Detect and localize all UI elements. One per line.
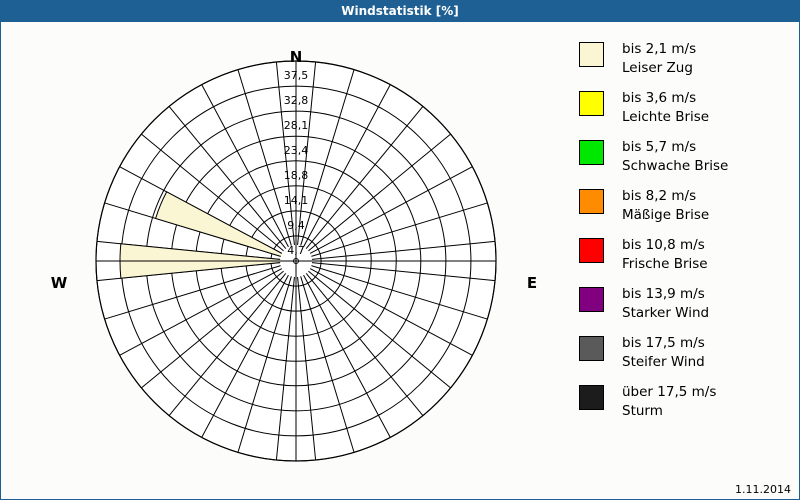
window-title: Windstatistik [%]: [341, 4, 458, 18]
legend-item-text: bis 8,2 m/sMäßige Brise: [622, 187, 709, 225]
legend-item-name: Mäßige Brise: [622, 206, 709, 225]
legend-item-speed: bis 5,7 m/s: [622, 138, 728, 157]
legend-color-swatch: [579, 385, 604, 410]
legend-item-speed: über 17,5 m/s: [622, 383, 716, 402]
windrose-window: Windstatistik [%] N S W E 4,79,414,118,8…: [0, 0, 800, 500]
legend-item[interactable]: bis 17,5 m/sSteifer Wind: [579, 334, 789, 372]
compass-label-east: E: [504, 274, 560, 292]
legend-item-name: Steifer Wind: [622, 353, 705, 372]
legend-item-text: bis 2,1 m/sLeiser Zug: [622, 40, 696, 78]
window-title-bar: Windstatistik [%]: [0, 0, 800, 22]
legend-color-swatch: [579, 238, 604, 263]
legend-color-swatch: [579, 336, 604, 361]
legend-item-speed: bis 13,9 m/s: [622, 285, 709, 304]
radial-tick-label: 28,1: [268, 119, 324, 132]
legend-item-text: bis 10,8 m/sFrische Brise: [622, 236, 708, 274]
compass-label-north: N: [266, 48, 326, 66]
radial-tick-label: 32,8: [268, 94, 324, 107]
legend-color-swatch: [579, 42, 604, 67]
legend-item-speed: bis 17,5 m/s: [622, 334, 705, 353]
radial-tick-label: 14,1: [268, 194, 324, 207]
legend-item-name: Schwache Brise: [622, 157, 728, 176]
legend-item-text: über 17,5 m/sSturm: [622, 383, 716, 421]
legend-color-swatch: [579, 140, 604, 165]
legend-item[interactable]: bis 13,9 m/sStarker Wind: [579, 285, 789, 323]
radial-tick-label: 37,5: [268, 69, 324, 82]
legend-item[interactable]: bis 10,8 m/sFrische Brise: [579, 236, 789, 274]
radial-tick-label: 4,7: [268, 244, 324, 257]
legend-item-text: bis 5,7 m/sSchwache Brise: [622, 138, 728, 176]
legend-item-text: bis 17,5 m/sSteifer Wind: [622, 334, 705, 372]
legend-item-text: bis 3,6 m/sLeichte Brise: [622, 89, 709, 127]
legend-color-swatch: [579, 91, 604, 116]
footer-date: 1.11.2014: [735, 483, 791, 496]
legend-item[interactable]: bis 2,1 m/sLeiser Zug: [579, 40, 789, 78]
legend-item-name: Frische Brise: [622, 255, 708, 274]
radial-tick-label: 18,8: [268, 169, 324, 182]
legend-item[interactable]: bis 3,6 m/sLeichte Brise: [579, 89, 789, 127]
legend-item-name: Starker Wind: [622, 304, 709, 323]
radial-tick-label: 23,4: [268, 144, 324, 157]
legend-item-speed: bis 10,8 m/s: [622, 236, 708, 255]
legend-item-name: Sturm: [622, 402, 716, 421]
legend: bis 2,1 m/sLeiser Zugbis 3,6 m/sLeichte …: [579, 40, 789, 432]
legend-color-swatch: [579, 189, 604, 214]
radial-tick-label: 9,4: [268, 219, 324, 232]
legend-item-name: Leiser Zug: [622, 59, 696, 78]
windrose-chart: N S W E 4,79,414,118,823,428,132,837,5: [1, 22, 571, 499]
legend-item-speed: bis 8,2 m/s: [622, 187, 709, 206]
legend-item-text: bis 13,9 m/sStarker Wind: [622, 285, 709, 323]
legend-color-swatch: [579, 287, 604, 312]
legend-item-speed: bis 2,1 m/s: [622, 40, 696, 59]
legend-item[interactable]: bis 8,2 m/sMäßige Brise: [579, 187, 789, 225]
legend-item-name: Leichte Brise: [622, 108, 709, 127]
legend-item[interactable]: über 17,5 m/sSturm: [579, 383, 789, 421]
compass-label-west: W: [31, 274, 87, 292]
legend-item-speed: bis 3,6 m/s: [622, 89, 709, 108]
legend-item[interactable]: bis 5,7 m/sSchwache Brise: [579, 138, 789, 176]
